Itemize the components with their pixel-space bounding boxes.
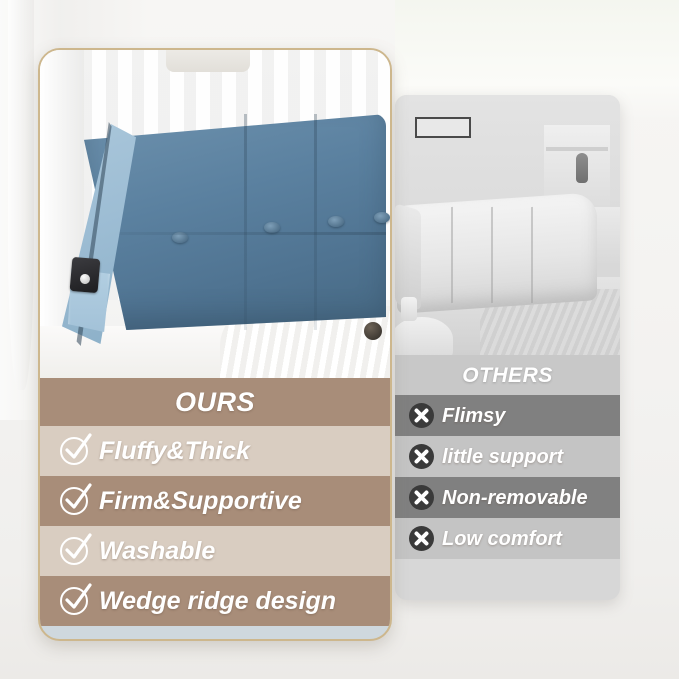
check-circle-icon — [60, 537, 88, 565]
pillow-seam — [314, 114, 317, 330]
others-feature-list: OTHERS Flimsy little support — [395, 355, 620, 559]
others-row: Flimsy — [395, 395, 620, 436]
ours-row-label: Fluffy&Thick — [99, 439, 250, 464]
others-row-label: little support — [442, 447, 563, 467]
ours-lamp — [166, 50, 250, 72]
others-comparison-card: OTHERS Flimsy little support — [395, 95, 620, 600]
x-circle-icon — [409, 485, 434, 510]
others-wall-frame — [415, 117, 471, 138]
ours-row: Washable — [40, 526, 390, 576]
ours-comparison-card: OURS Fluffy&Thick Firm&Supportive — [38, 48, 392, 641]
others-tuft-seam — [531, 207, 533, 303]
others-wedge-pillow — [397, 192, 597, 314]
ours-product-photo — [40, 50, 390, 378]
x-circle-icon — [409, 526, 434, 551]
ours-header-band: OURS — [40, 378, 390, 426]
others-row: Low comfort — [395, 518, 620, 559]
pillow-horizontal-seam — [86, 232, 386, 235]
ours-row: Firm&Supportive — [40, 476, 390, 526]
others-tuft-seam — [491, 207, 493, 303]
ours-row: Fluffy&Thick — [40, 426, 390, 476]
ours-row-label: Firm&Supportive — [99, 489, 302, 514]
pillow-seam — [244, 114, 247, 330]
check-circle-icon — [60, 587, 88, 615]
others-row-label: Low comfort — [442, 529, 562, 549]
others-row-label: Non-removable — [442, 488, 588, 508]
ours-header-label: OURS — [175, 389, 255, 416]
others-header-label: OTHERS — [462, 365, 553, 386]
curtain-fold — [8, 0, 34, 390]
check-circle-icon — [60, 437, 88, 465]
others-row-label: Flimsy — [442, 406, 505, 426]
ours-feature-list: OURS Fluffy&Thick Firm&Supportive — [40, 378, 390, 626]
x-circle-icon — [409, 444, 434, 469]
others-shelf — [546, 147, 608, 151]
ours-row-label: Wedge ridge design — [99, 589, 336, 614]
ours-wedge-pillow — [56, 114, 386, 352]
others-product-photo — [395, 95, 620, 355]
others-pillow-side — [395, 203, 421, 310]
others-tuft-seam — [451, 207, 453, 303]
pillow-tuft-button — [328, 216, 344, 227]
check-circle-icon — [60, 487, 88, 515]
others-vase — [576, 153, 588, 183]
others-header-band: OTHERS — [395, 355, 620, 395]
x-circle-icon — [409, 403, 434, 428]
ours-row: Wedge ridge design — [40, 576, 390, 626]
pillow-tuft-button — [374, 212, 390, 223]
ours-row-label: Washable — [99, 539, 215, 564]
others-row: little support — [395, 436, 620, 477]
others-row: Non-removable — [395, 477, 620, 518]
others-small-lamp — [401, 297, 417, 321]
